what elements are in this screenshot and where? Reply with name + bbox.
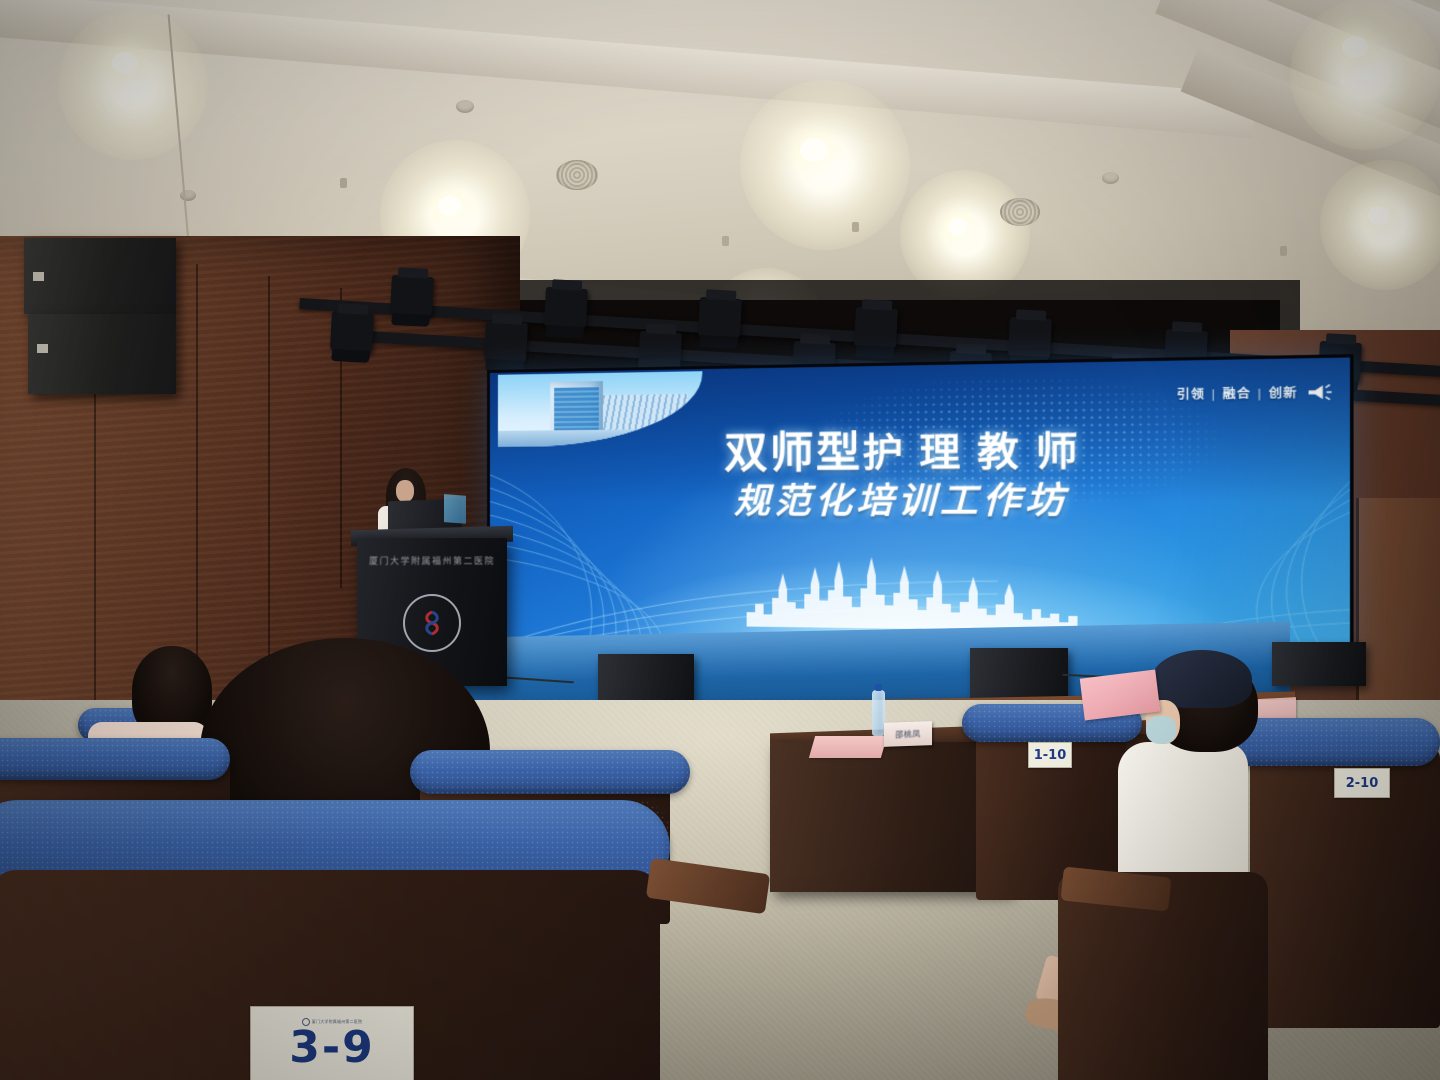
stage-monitor-speaker: [1272, 642, 1366, 686]
face-mask: [1146, 716, 1176, 744]
slide-title-line2: 规范化培训工作坊: [490, 477, 1350, 524]
stage-light: [544, 287, 588, 329]
slogan-separator: |: [1211, 387, 1217, 401]
slide-title: 双师型护 理 教 师 规范化培训工作坊: [490, 424, 1350, 524]
stage-monitor-speaker: [598, 654, 694, 702]
hospital-emblem-icon: [403, 594, 461, 652]
wall-panel-seam: [196, 264, 198, 704]
name-card-text: 邵桃凤: [895, 728, 921, 740]
seat-number: 3-9: [289, 1026, 375, 1070]
slide-title-heavy: 双师型: [724, 427, 862, 478]
stage-light: [330, 311, 374, 353]
downlight-core: [948, 218, 968, 236]
seat-label-org: 厦门大学附属福州第二医院: [302, 1018, 362, 1026]
downlight-core: [112, 52, 138, 74]
wall-speaker-bottom: [28, 314, 176, 394]
wall-panel-seam: [268, 276, 270, 706]
presenter-face: [396, 480, 414, 502]
stage-light: [390, 275, 434, 317]
downlight: [1320, 160, 1440, 290]
downlight-core: [800, 138, 828, 162]
downlight-core: [1368, 206, 1390, 225]
stage-light: [1008, 317, 1052, 359]
seat-number: 2-10: [1346, 776, 1379, 791]
slide-title-line1: 双师型护 理 教 师: [490, 424, 1350, 479]
seat-label-3-9: 厦门大学附属福州第二医院 3-9: [250, 1006, 414, 1080]
seat-label-org-text: 厦门大学附属福州第二医院: [312, 1019, 362, 1025]
downlight-core: [1342, 36, 1368, 58]
megaphone-icon: [1306, 382, 1333, 402]
seat-label-2-10: 2-10: [1334, 768, 1390, 798]
chair-cushion: [0, 738, 230, 780]
name-card: 邵桃凤: [884, 721, 932, 747]
city-skyline-silhouette: [747, 552, 1078, 631]
seat-label-1-10: 1-10: [1028, 742, 1072, 768]
downlight-core: [438, 196, 462, 216]
slide-slogan: 引领 | 融合 | 创新: [1177, 382, 1333, 404]
podium-org-text: 厦门大学附属福州第二医院: [357, 554, 507, 567]
sprinkler-icon: [852, 222, 859, 232]
stage-light: [484, 321, 528, 363]
stage-monitor-speaker: [970, 648, 1068, 698]
downlight: [58, 10, 208, 160]
stage-light: [698, 297, 742, 339]
slogan-item-3: 创新: [1269, 384, 1298, 402]
slogan-item-1: 引领: [1177, 385, 1205, 403]
stage-light: [854, 307, 898, 349]
seat-number: 1-10: [1034, 748, 1067, 763]
ac-diffuser-icon: [1000, 198, 1040, 226]
ac-diffuser-icon: [556, 160, 598, 190]
hospital-logo-icon: [302, 1018, 310, 1026]
auditorium-photo: 引领 | 融合 | 创新 双师型护 理 教 师 规范化培训工作坊: [0, 0, 1440, 1080]
slogan-separator: |: [1257, 386, 1263, 400]
downlight: [740, 80, 910, 250]
chair-cushion: [410, 750, 690, 794]
wall-speaker-top: [24, 238, 176, 314]
smoke-detector-icon: [1102, 172, 1119, 184]
downlight: [1290, 0, 1440, 150]
pink-document: [809, 736, 887, 758]
slogan-item-2: 融合: [1223, 384, 1252, 402]
chair-cushion: [1224, 718, 1440, 766]
sprinkler-icon: [340, 178, 347, 188]
slide-title-light: 护 理 教 师: [862, 429, 1079, 476]
smoke-detector-icon: [456, 100, 474, 113]
sprinkler-icon: [722, 236, 729, 246]
sprinkler-icon: [1280, 246, 1287, 256]
